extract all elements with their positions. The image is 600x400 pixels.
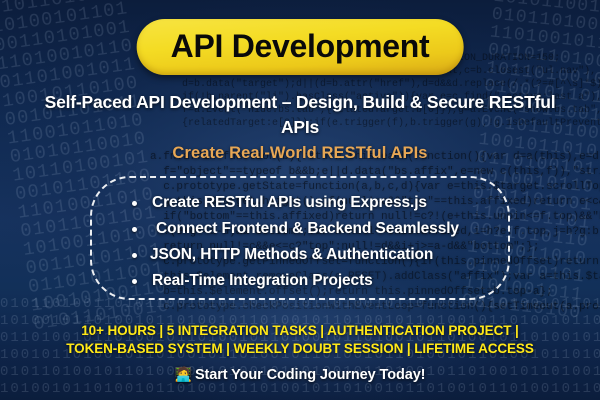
list-item: JSON, HTTP Methods & Authentication	[126, 242, 508, 268]
footer-highlights-line-2: TOKEN-BASED SYSTEM | WEEKLY DOUBT SESSIO…	[0, 341, 600, 356]
course-promo-poster: 01011010011 10100101101 00110101001 1101…	[0, 0, 600, 400]
poster-content: API Development Self-Paced API Developme…	[0, 0, 600, 400]
list-item: Create RESTful APIs using Express.js	[126, 190, 508, 216]
list-item: Real-Time Integration Projects	[126, 268, 508, 294]
footer-highlights-line-1: 10+ HOURS | 5 INTEGRATION TASKS | AUTHEN…	[0, 323, 600, 338]
list-item: Connect Frontend & Backend Seamlessly	[126, 216, 508, 242]
call-to-action: 🧑‍💻Start Your Coding Journey Today!	[0, 366, 600, 383]
technologist-icon: 🧑‍💻	[175, 366, 192, 382]
call-to-action-label: Start Your Coding Journey Today!	[195, 367, 425, 383]
subtitle: Self-Paced API Development – Design, Bui…	[0, 90, 600, 140]
feature-list: Create RESTful APIs using Express.js Con…	[92, 190, 508, 294]
features-box: Create RESTful APIs using Express.js Con…	[90, 176, 510, 300]
tagline: Create Real-World RESTful APIs	[0, 144, 600, 163]
title-badge: API Development	[137, 19, 464, 75]
page-title: API Development	[171, 24, 430, 68]
